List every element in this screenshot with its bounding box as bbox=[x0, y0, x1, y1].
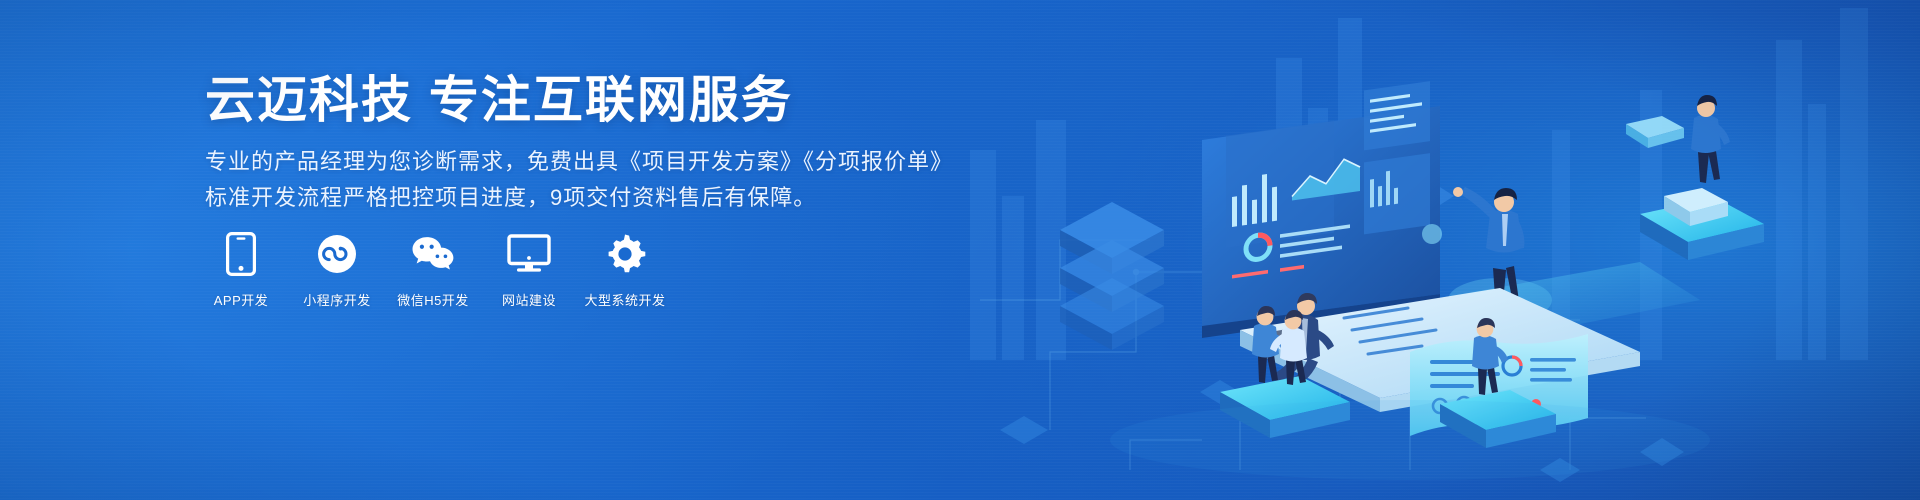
wechat-icon bbox=[411, 232, 455, 276]
iso-cube-stack bbox=[1060, 202, 1164, 350]
service-label: 大型系统开发 bbox=[585, 290, 666, 309]
service-label: 微信H5开发 bbox=[397, 290, 469, 309]
service-item-wechat-h5[interactable]: 微信H5开发 bbox=[397, 232, 469, 309]
mini-program-icon bbox=[315, 232, 359, 276]
subtitle-line-1: 专业的产品经理为您诊断需求，免费出具《项目开发方案》《分项报价单》 bbox=[205, 145, 953, 179]
subtitle-line-2: 标准开发流程严格把控项目进度，9项交付资料售后有保障。 bbox=[205, 181, 816, 215]
service-item-large-system[interactable]: 大型系统开发 bbox=[589, 232, 661, 309]
hero-illustration bbox=[940, 0, 1920, 500]
service-item-app[interactable]: APP开发 bbox=[205, 232, 277, 309]
gear-icon bbox=[603, 232, 647, 276]
service-label: 网站建设 bbox=[502, 290, 556, 309]
service-label: APP开发 bbox=[214, 290, 269, 309]
monitor-icon bbox=[507, 232, 551, 276]
service-list: APP开发 小程序开发 bbox=[205, 232, 661, 309]
hero-banner: 云迈科技 专注互联网服务 专业的产品经理为您诊断需求，免费出具《项目开发方案》《… bbox=[0, 0, 1920, 500]
service-item-miniprogram[interactable]: 小程序开发 bbox=[301, 232, 373, 309]
person-podium-right bbox=[1691, 95, 1730, 183]
floating-window-panel bbox=[1626, 116, 1684, 148]
hero-content: 云迈科技 专注互联网服务 专业的产品经理为您诊断需求，免费出具《项目开发方案》《… bbox=[205, 0, 905, 500]
service-item-website[interactable]: 网站建设 bbox=[493, 232, 565, 309]
mobile-phone-icon bbox=[219, 232, 263, 276]
page-title: 云迈科技 专注互联网服务 bbox=[205, 72, 793, 128]
service-label: 小程序开发 bbox=[303, 290, 371, 309]
